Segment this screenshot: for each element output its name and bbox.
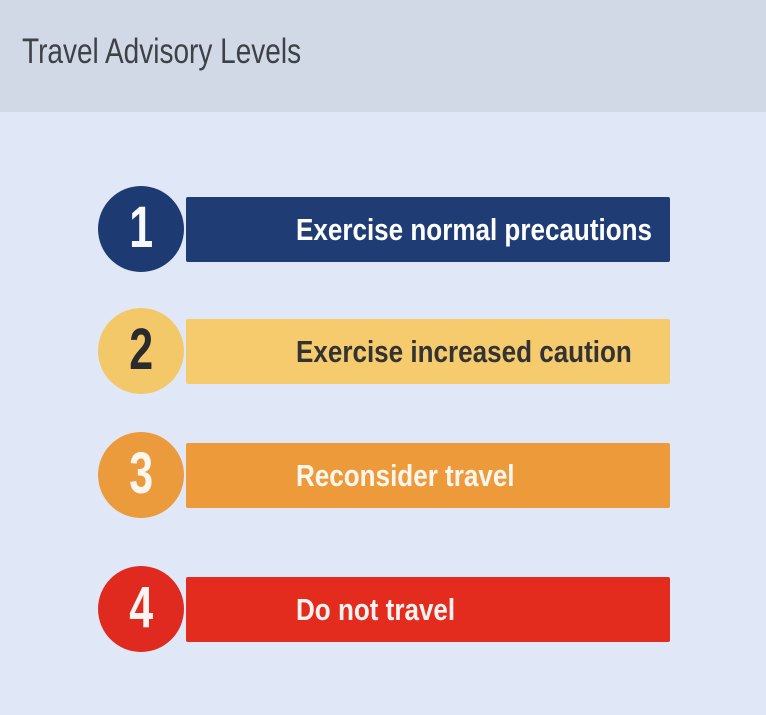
advisory-level-item: Reconsider travel 3 <box>98 432 670 518</box>
advisory-level-bar: Do not travel <box>186 577 670 642</box>
advisory-level-badge: 3 <box>98 432 184 518</box>
advisory-level-number: 1 <box>129 199 153 257</box>
advisory-level-badge: 1 <box>98 186 184 272</box>
header-band: Travel Advisory Levels <box>0 0 766 112</box>
advisory-level-item: Exercise normal precautions 1 <box>98 186 670 272</box>
travel-advisory-infographic: Travel Advisory Levels Exercise normal p… <box>0 0 766 715</box>
advisory-level-bar: Exercise increased caution <box>186 319 670 384</box>
advisory-level-bar: Exercise normal precautions <box>186 197 670 262</box>
advisory-level-number: 4 <box>129 579 153 637</box>
advisory-level-label: Exercise increased caution <box>296 335 632 369</box>
advisory-level-bar: Reconsider travel <box>186 443 670 508</box>
advisory-level-label: Reconsider travel <box>296 459 515 493</box>
advisory-level-item: Do not travel 4 <box>98 566 670 652</box>
advisory-level-label: Exercise normal precautions <box>296 213 652 247</box>
advisory-levels-list: Exercise normal precautions 1 Exercise i… <box>0 112 766 715</box>
advisory-level-badge: 4 <box>98 566 184 652</box>
page-title: Travel Advisory Levels <box>22 30 301 74</box>
advisory-level-item: Exercise increased caution 2 <box>98 308 670 394</box>
advisory-level-number: 3 <box>129 445 153 503</box>
advisory-level-label: Do not travel <box>296 593 455 627</box>
advisory-level-badge: 2 <box>98 308 184 394</box>
advisory-level-number: 2 <box>129 321 153 379</box>
